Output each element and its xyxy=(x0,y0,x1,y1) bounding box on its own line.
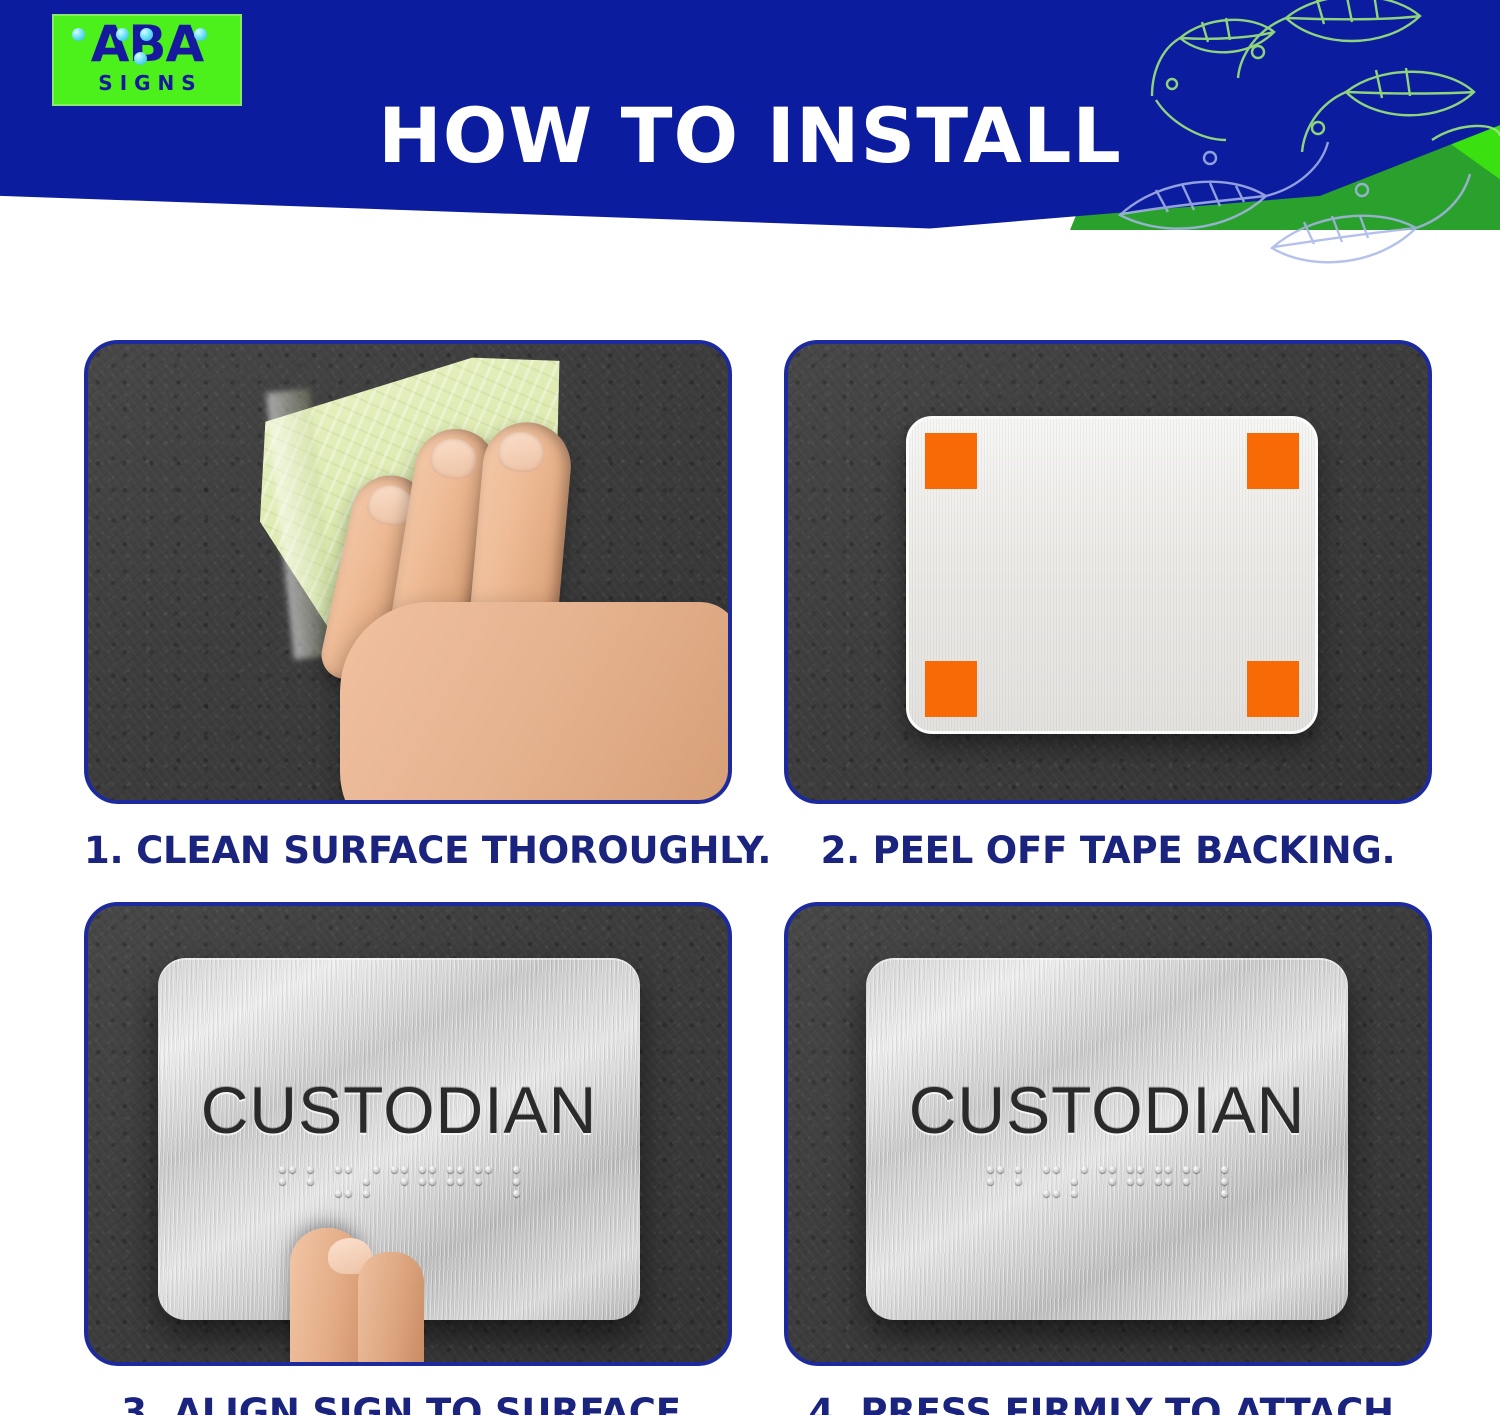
logo-braille-dot xyxy=(134,52,147,65)
logo-braille-dot xyxy=(140,28,153,41)
sign-text: CUSTODIAN xyxy=(158,1076,640,1144)
braille-cell xyxy=(279,1166,296,1197)
step-2-photo xyxy=(784,340,1432,804)
finger xyxy=(290,1228,364,1366)
braille-cell xyxy=(1183,1166,1200,1197)
steps-grid: 1. CLEAN SURFACE THOROUGHLY. 2. PEEL OFF… xyxy=(0,290,1500,1415)
hand xyxy=(324,422,732,804)
adhesive-tape-square xyxy=(1247,661,1299,717)
adhesive-tape-square xyxy=(1247,433,1299,489)
braille-cell xyxy=(1127,1166,1144,1197)
step-1: 1. CLEAN SURFACE THOROUGHLY. xyxy=(84,340,732,872)
logo-primary-text: ABA xyxy=(91,18,204,70)
logo-braille-dot xyxy=(116,28,129,41)
sign-text: CUSTODIAN xyxy=(866,1076,1348,1144)
adhesive-tape-square xyxy=(925,661,977,717)
finger xyxy=(358,1252,424,1366)
braille-cell xyxy=(1071,1166,1088,1197)
braille-cell xyxy=(363,1166,380,1197)
step-3-photo: CUSTODIAN xyxy=(84,902,732,1366)
braille-cell xyxy=(335,1166,352,1197)
logo-braille-dot xyxy=(72,28,85,41)
step-4-photo: CUSTODIAN xyxy=(784,902,1432,1366)
step-1-caption: 1. CLEAN SURFACE THOROUGHLY. xyxy=(84,830,732,872)
step-4: CUSTODIAN 4. PRESS FIRMLY TO ATTACH. xyxy=(784,902,1432,1415)
braille-cell xyxy=(1211,1166,1228,1197)
adhesive-tape-square xyxy=(925,433,977,489)
fingernail xyxy=(428,435,480,482)
sign-back-plate xyxy=(906,416,1318,734)
fingernail xyxy=(496,430,545,474)
step-3: CUSTODIAN xyxy=(84,902,732,1415)
braille-cell xyxy=(1099,1166,1116,1197)
braille-cell xyxy=(1015,1166,1032,1197)
braille-row xyxy=(158,1166,640,1197)
braille-cell xyxy=(307,1166,324,1197)
step-2: 2. PEEL OFF TAPE BACKING. xyxy=(784,340,1432,872)
page-title: HOW TO INSTALL xyxy=(0,96,1500,176)
braille-cell xyxy=(391,1166,408,1197)
braille-cell xyxy=(447,1166,464,1197)
logo-braille-dot xyxy=(194,28,207,41)
braille-cell xyxy=(475,1166,492,1197)
braille-row xyxy=(866,1166,1348,1197)
aba-signs-logo: ABA SIGNS xyxy=(52,14,242,106)
braille-cell xyxy=(987,1166,1004,1197)
step-1-photo xyxy=(84,340,732,804)
braille-cell xyxy=(1155,1166,1172,1197)
braille-cell xyxy=(1043,1166,1060,1197)
braille-cell xyxy=(419,1166,436,1197)
how-to-install-infographic: ABA SIGNS HOW TO INSTALL xyxy=(0,0,1500,1415)
braille-cell xyxy=(503,1166,520,1197)
step-2-caption: 2. PEEL OFF TAPE BACKING. xyxy=(784,830,1432,872)
step-3-caption: 3. ALIGN SIGN TO SURFACE. xyxy=(84,1392,732,1415)
logo-secondary-text: SIGNS xyxy=(91,72,202,94)
step-4-caption: 4. PRESS FIRMLY TO ATTACH. xyxy=(784,1392,1432,1415)
custodian-sign: CUSTODIAN xyxy=(866,958,1348,1320)
header-banner: ABA SIGNS HOW TO INSTALL xyxy=(0,0,1500,290)
palm xyxy=(340,602,732,804)
hand-holding-sign xyxy=(266,1228,496,1366)
